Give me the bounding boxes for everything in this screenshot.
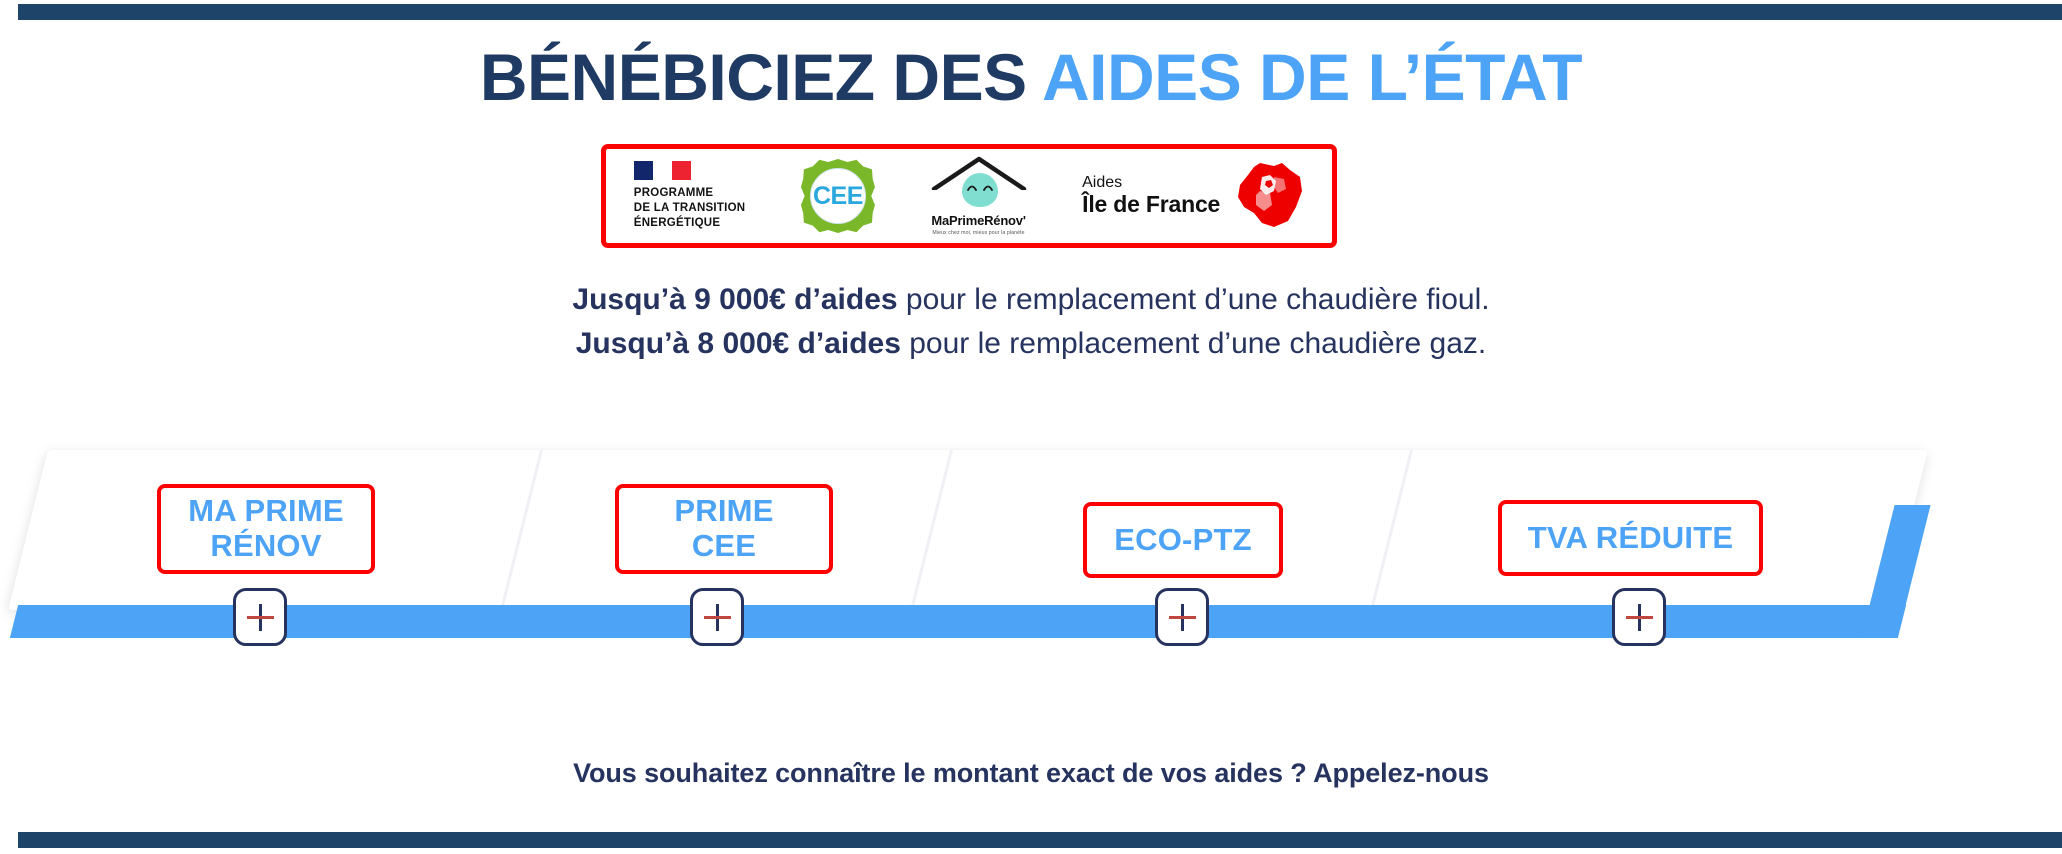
expand-button-tva-reduite[interactable] [1612,588,1666,646]
aid-box-prime-cee-line-1: PRIME [674,494,773,529]
page-title-light-part: AIDES DE L’ÉTAT [1042,40,1582,114]
pte-line-2: DE LA TRANSITION [634,201,746,216]
aid-amount-lines: Jusqu’à 9 000€ d’aides pour le remplacem… [0,278,2062,367]
aid-amount-fioul-bold: Jusqu’à 9 000€ d’aides [572,283,897,316]
plus-icon-horizontal [704,616,731,619]
aid-box-eco-ptz[interactable]: ECO-PTZ [1083,502,1283,578]
smiling-eyes-icon [967,183,993,192]
aid-box-prime-cee-line-2: CEE [674,529,773,564]
expand-button-eco-ptz[interactable] [1155,588,1209,646]
plus-icon-horizontal [1626,616,1653,619]
partner-logos-strip: PROGRAMME DE LA TRANSITION ÉNERGÉTIQUE C… [601,144,1337,248]
aid-amount-fioul-rest: pour le remplacement d’une chaudière fio… [898,283,1490,316]
aid-box-prime-cee[interactable]: PRIME CEE [615,484,833,574]
plus-icon-horizontal [1169,616,1196,619]
aid-amount-gaz-rest: pour le remplacement d’une chaudière gaz… [901,327,1486,360]
maprimerenov-label: MaPrimeRénov' [931,213,1025,228]
aid-box-tva-reduite[interactable]: TVA RÉDUITE [1498,500,1763,576]
top-divider-bar [18,4,2062,20]
aid-box-tva-reduite-line-1: TVA RÉDUITE [1528,521,1733,556]
ile-de-france-map-icon [1230,161,1304,231]
aid-amount-line-fioul: Jusqu’à 9 000€ d’aides pour le remplacem… [0,278,2062,322]
logo-maprimerenov: MaPrimeRénov' Mieux chez moi, mieux pour… [931,149,1027,243]
maprimerenov-tagline: Mieux chez moi, mieux pour la planète [932,230,1024,236]
aid-amount-gaz-bold: Jusqu’à 8 000€ d’aides [576,327,901,360]
aids-timeline: MA PRIME RÉNOV PRIME CEE ECO-PTZ TVA RÉD… [0,440,2062,660]
expand-button-prime-cee[interactable] [690,588,744,646]
pte-line-3: ÉNERGÉTIQUE [634,216,746,231]
aid-box-ma-prime-renov-line-2: RÉNOV [188,529,343,564]
idf-line-2: Île de France [1082,192,1220,217]
idf-line-1: Aides [1082,175,1122,192]
logo-aides-ile-de-france: Aides Île de France [1082,149,1304,243]
expand-button-ma-prime-renov[interactable] [233,588,287,646]
plus-icon-horizontal [247,616,274,619]
page-title: BÉNÉBICIEZ DES AIDES DE L’ÉTAT [0,44,2062,110]
aid-box-ma-prime-renov[interactable]: MA PRIME RÉNOV [157,484,375,574]
page-title-dark-part: BÉNÉBICIEZ DES [480,40,1042,114]
cee-label: CEE [813,182,863,211]
aid-box-eco-ptz-line-1: ECO-PTZ [1114,523,1251,558]
logo-programme-transition-energetique: PROGRAMME DE LA TRANSITION ÉNERGÉTIQUE [634,149,746,243]
cee-badge-icon: CEE [801,159,875,233]
logo-cee: CEE [801,149,875,243]
maprimerenov-house-icon [931,156,1027,210]
french-flag-icon [634,161,691,180]
bottom-divider-bar [18,832,2062,848]
pte-line-1: PROGRAMME [634,186,746,201]
aid-box-ma-prime-renov-line-1: MA PRIME [188,494,343,529]
call-to-action-text: Vous souhaitez connaître le montant exac… [0,758,2062,789]
aid-amount-line-gaz: Jusqu’à 8 000€ d’aides pour le remplacem… [0,322,2062,366]
